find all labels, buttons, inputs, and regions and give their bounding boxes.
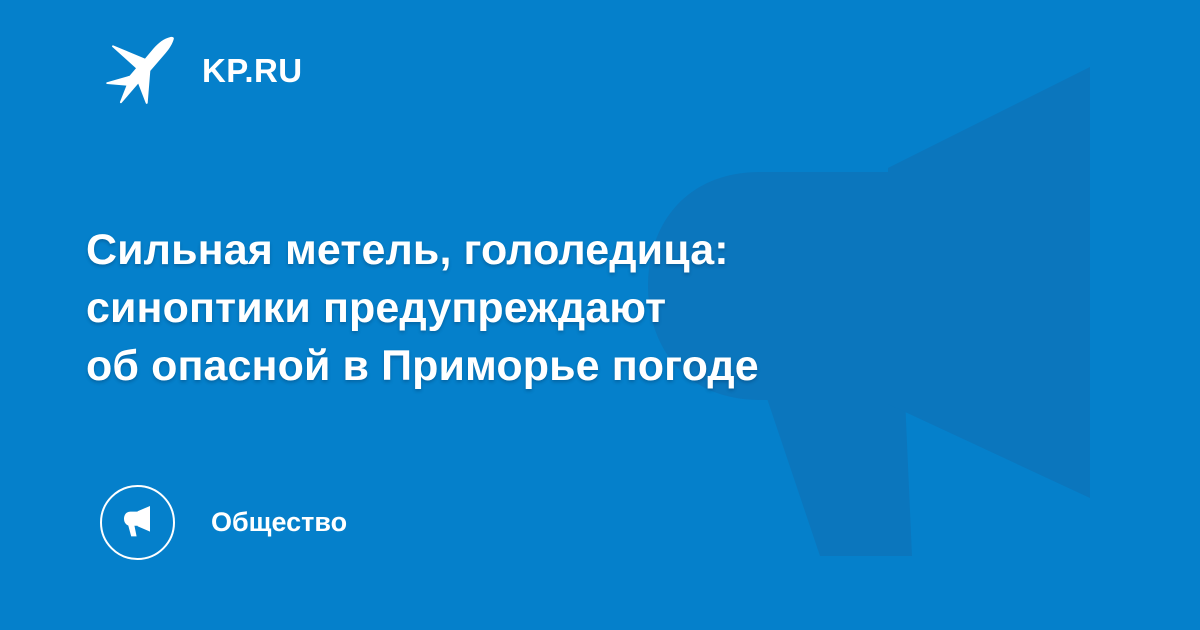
headline-line-1: Сильная метель, гололедица:	[86, 221, 1046, 279]
page-title: Сильная метель, гололедица: синоптики пр…	[86, 221, 1046, 395]
brand-name: KP.RU	[202, 54, 302, 87]
megaphone-icon	[117, 501, 159, 543]
rubric-category[interactable]: Общество	[100, 484, 347, 560]
headline-line-2: синоптики предупреждают	[86, 279, 1046, 337]
headline-line-3: об опасной в Приморье погоде	[86, 337, 1046, 395]
rubric-label: Общество	[211, 509, 347, 536]
social-share-card: KP.RU Сильная метель, гололедица: синопт…	[0, 0, 1200, 630]
swallow-bird-icon	[104, 35, 180, 105]
brand-logo[interactable]: KP.RU	[104, 34, 302, 106]
rubric-badge[interactable]	[100, 485, 175, 560]
